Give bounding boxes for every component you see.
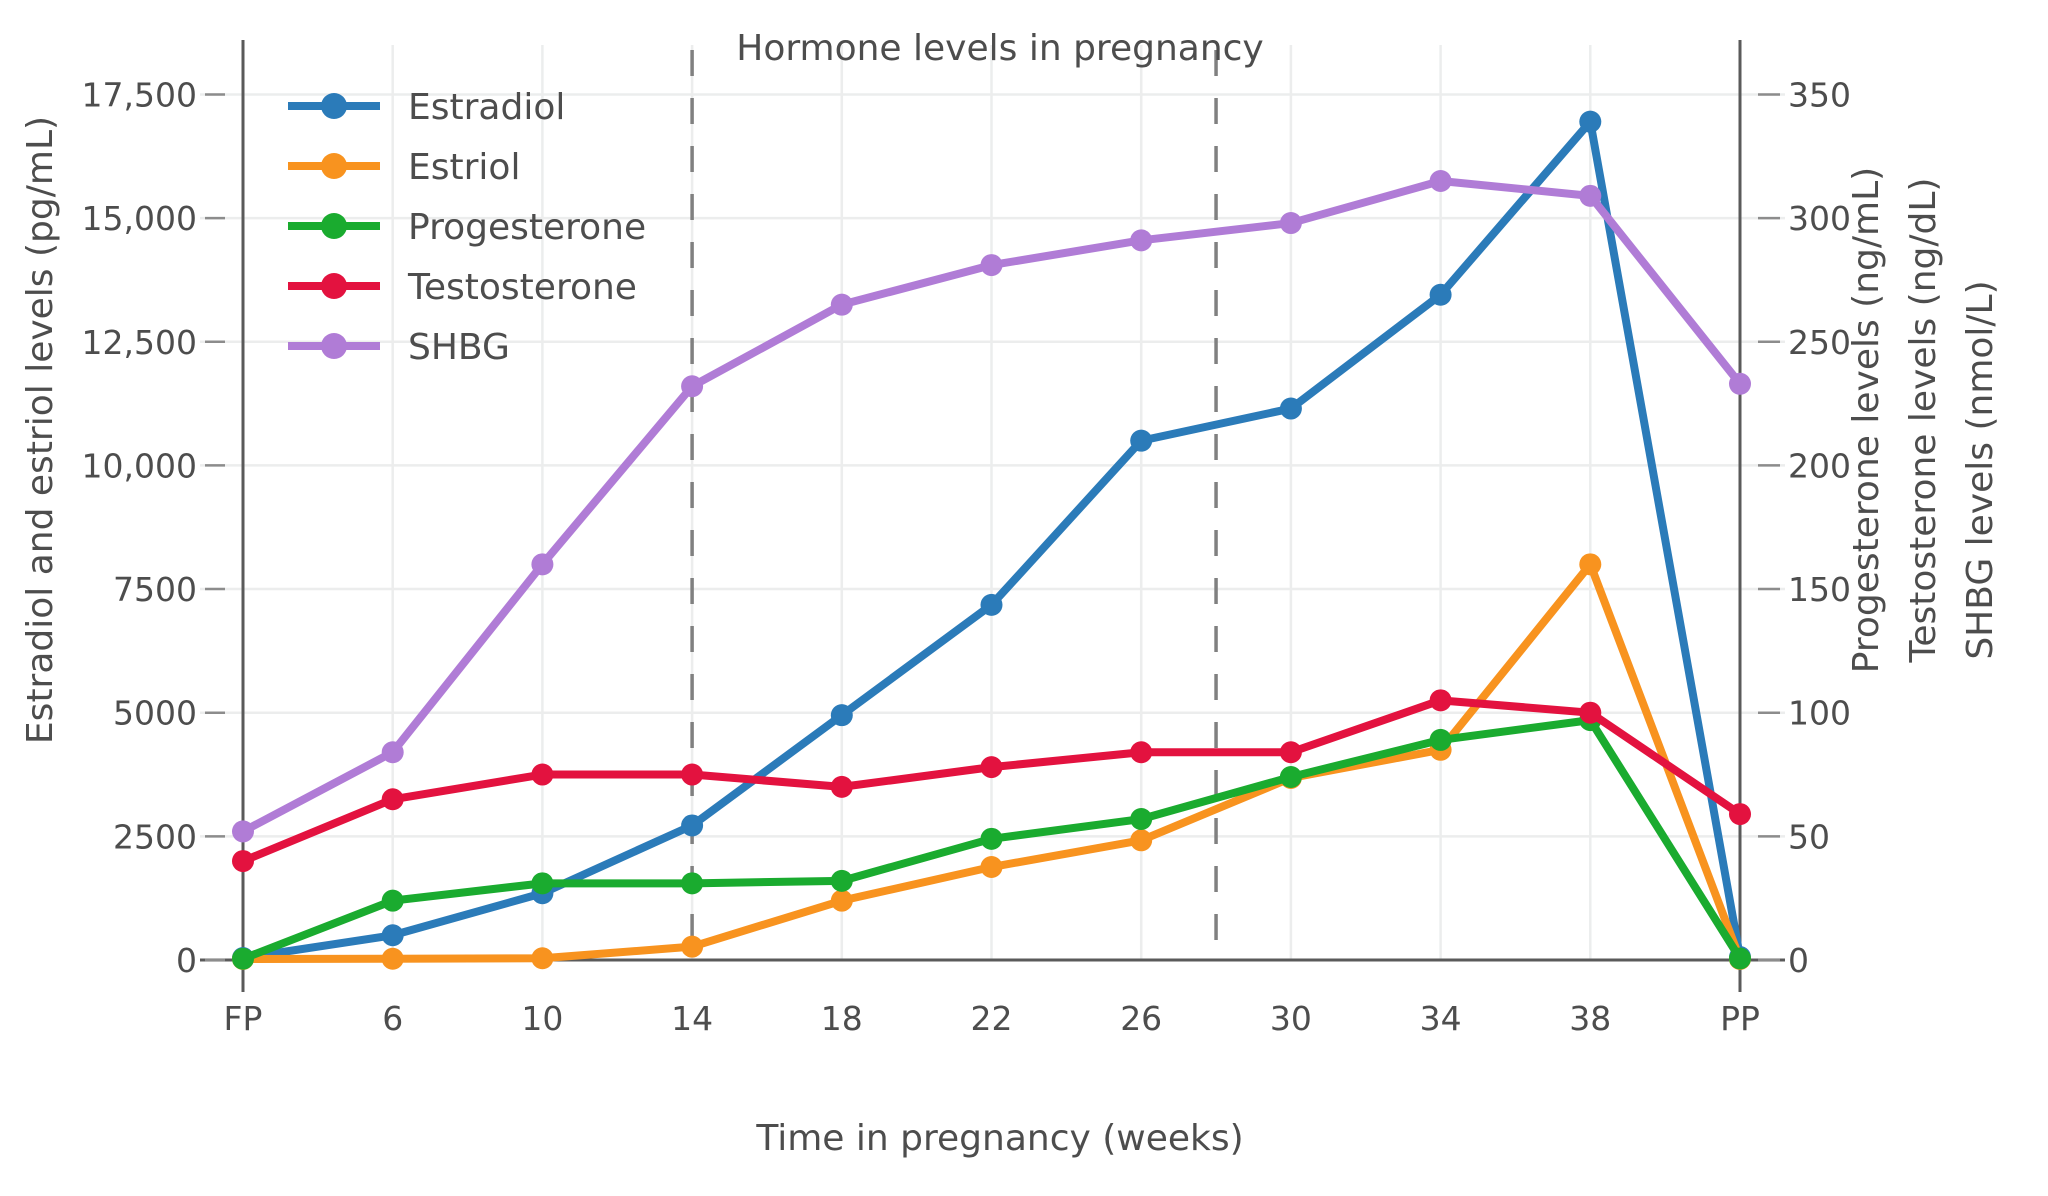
data-point-estradiol-26 xyxy=(1130,430,1152,452)
data-point-testosterone-22 xyxy=(981,756,1003,778)
data-point-estradiol-30 xyxy=(1280,398,1302,420)
y-axis-left-title: Estradiol and estriol levels (pg/mL) xyxy=(20,116,61,744)
data-point-estriol-14 xyxy=(681,936,703,958)
data-point-estriol-26 xyxy=(1130,829,1152,851)
y-axis-left-tick-label: 5000 xyxy=(113,694,197,733)
chart-container: 025005000750010,00012,50015,00017,500 05… xyxy=(0,0,2048,1196)
y-axis-right-tick-label: 150 xyxy=(1788,570,1851,609)
data-point-testosterone-6 xyxy=(382,788,404,810)
x-axis-tick-label: 22 xyxy=(971,999,1013,1038)
y-axis-right-title-progesterone: Progesterone levels (ng/mL) xyxy=(1846,167,1887,673)
data-point-estradiol-34 xyxy=(1430,284,1452,306)
y-axis-right-tick-label: 50 xyxy=(1788,817,1830,856)
hormone-levels-line-chart: 025005000750010,00012,50015,00017,500 05… xyxy=(0,0,2048,1196)
x-axis-tick-label: 18 xyxy=(821,999,863,1038)
x-axis-tick-label: 6 xyxy=(382,999,403,1038)
y-axis-right-tick-label: 0 xyxy=(1788,941,1809,980)
data-point-estradiol-6 xyxy=(382,924,404,946)
data-point-progesterone-14 xyxy=(681,872,703,894)
data-point-estradiol-38 xyxy=(1579,111,1601,133)
y-axis-right-title-testosterone: Testosterone levels (ng/dL) xyxy=(1903,178,1944,664)
legend-label-shbg: SHBG xyxy=(408,327,510,368)
x-axis-tick-label: PP xyxy=(1720,999,1760,1038)
legend-marker-estriol xyxy=(321,153,347,179)
y-axis-left-tick-label: 10,000 xyxy=(82,446,197,485)
x-axis-tick-label: 26 xyxy=(1120,999,1162,1038)
y-axis-right-tick-label: 300 xyxy=(1788,199,1851,238)
y-axis-left-tick-label: 15,000 xyxy=(82,199,197,238)
x-axis-tick-label: 34 xyxy=(1420,999,1462,1038)
legend-marker-progesterone xyxy=(321,213,347,239)
data-point-shbg-14 xyxy=(681,375,703,397)
data-point-testosterone-38 xyxy=(1579,702,1601,724)
legend-marker-estradiol xyxy=(321,93,347,119)
y-axis-left-tick-label: 7500 xyxy=(113,570,197,609)
legend-label-estradiol: Estradiol xyxy=(408,87,565,128)
y-axis-left-tick-label: 12,500 xyxy=(82,323,197,362)
data-point-shbg-18 xyxy=(831,294,853,316)
data-point-estriol-18 xyxy=(831,890,853,912)
data-point-estriol-6 xyxy=(382,948,404,970)
data-point-shbg-22 xyxy=(981,254,1003,276)
data-point-testosterone-26 xyxy=(1130,741,1152,763)
y-axis-right-tick-label: 250 xyxy=(1788,323,1851,362)
data-point-progesterone-10 xyxy=(531,872,553,894)
data-point-progesterone-30 xyxy=(1280,766,1302,788)
legend-marker-shbg xyxy=(321,333,347,359)
data-point-shbg-6 xyxy=(382,741,404,763)
data-point-progesterone-22 xyxy=(981,828,1003,850)
data-point-estradiol-14 xyxy=(681,814,703,836)
y-axis-right-tick-label: 350 xyxy=(1788,75,1851,114)
data-point-progesterone-18 xyxy=(831,870,853,892)
x-axis-tick-label: FP xyxy=(224,999,263,1038)
data-point-shbg-38 xyxy=(1579,185,1601,207)
data-point-progesterone-PP xyxy=(1729,948,1751,970)
y-axis-left-tick-label: 17,500 xyxy=(82,75,197,114)
data-point-testosterone-FP xyxy=(232,850,254,872)
data-point-progesterone-FP xyxy=(232,948,254,970)
data-point-estradiol-18 xyxy=(831,704,853,726)
x-axis-tick-label: 14 xyxy=(671,999,713,1038)
data-point-shbg-FP xyxy=(232,820,254,842)
data-point-shbg-26 xyxy=(1130,229,1152,251)
y-axis-right-tick-label: 200 xyxy=(1788,446,1851,485)
x-axis-tick-label: 30 xyxy=(1270,999,1312,1038)
x-axis-tick-label: 10 xyxy=(521,999,563,1038)
data-point-estriol-38 xyxy=(1579,553,1601,575)
data-point-testosterone-18 xyxy=(831,776,853,798)
chart-title: Hormone levels in pregnancy xyxy=(736,28,1263,69)
data-point-testosterone-34 xyxy=(1430,689,1452,711)
data-point-shbg-34 xyxy=(1430,170,1452,192)
data-point-progesterone-26 xyxy=(1130,808,1152,830)
data-point-shbg-30 xyxy=(1280,212,1302,234)
data-point-shbg-PP xyxy=(1729,373,1751,395)
y-axis-right-tick-label: 100 xyxy=(1788,694,1851,733)
data-point-testosterone-30 xyxy=(1280,741,1302,763)
data-point-estriol-10 xyxy=(531,947,553,969)
data-point-progesterone-34 xyxy=(1430,729,1452,751)
legend-marker-testosterone xyxy=(321,273,347,299)
y-axis-left-tick-label: 2500 xyxy=(113,817,197,856)
x-axis-tick-label: 38 xyxy=(1569,999,1611,1038)
x-axis-title: Time in pregnancy (weeks) xyxy=(755,1118,1243,1159)
y-axis-left-tick-label: 0 xyxy=(176,941,197,980)
data-point-shbg-10 xyxy=(531,553,553,575)
y-axis-right-title-shbg: SHBG levels (nmol/L) xyxy=(1960,280,2001,659)
legend-label-testosterone: Testosterone xyxy=(407,267,637,308)
legend-label-progesterone: Progesterone xyxy=(408,207,646,248)
data-point-estriol-22 xyxy=(981,856,1003,878)
data-point-testosterone-10 xyxy=(531,764,553,786)
legend-label-estriol: Estriol xyxy=(408,147,520,188)
data-point-testosterone-14 xyxy=(681,764,703,786)
data-point-estradiol-22 xyxy=(981,594,1003,616)
data-point-testosterone-PP xyxy=(1729,803,1751,825)
data-point-progesterone-6 xyxy=(382,890,404,912)
